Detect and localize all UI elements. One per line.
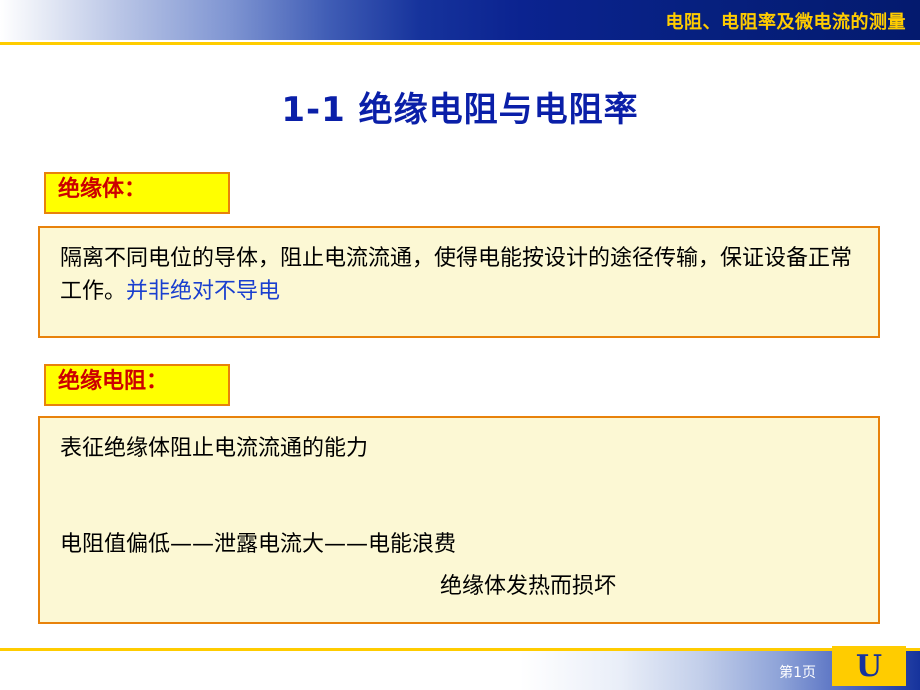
footer-band: 第1页 U xyxy=(0,648,920,690)
header-title: 电阻、电阻率及微电流的测量 xyxy=(666,8,907,34)
header-yellow-rule xyxy=(0,42,920,45)
page-title: 1-1 绝缘电阻与电阻率 xyxy=(0,82,920,131)
insulator-content-box: 隔离不同电位的导体，阻止电流流通，使得电能按设计的途径传输，保证设备正常工作。并… xyxy=(38,226,880,338)
insulation-resistance-tag-label: 绝缘电阻： xyxy=(44,364,230,406)
insulation-resistance-line3: 绝缘体发热而损坏 xyxy=(440,570,616,603)
insulator-tag-label: 绝缘体： xyxy=(44,172,230,214)
insulation-resistance-content-box: 表征绝缘体阻止电流流通的能力 电阻值偏低——泄露电流大——电能浪费 绝缘体发热而… xyxy=(38,416,880,624)
logo-u-icon: U xyxy=(832,646,906,686)
insulation-resistance-line1: 表征绝缘体阻止电流流通的能力 xyxy=(60,432,368,465)
header-band: 电阻、电阻率及微电流的测量 xyxy=(0,0,920,46)
insulator-body-text: 隔离不同电位的导体，阻止电流流通，使得电能按设计的途径传输，保证设备正常工作。并… xyxy=(60,242,860,308)
logo-badge: U xyxy=(832,646,906,686)
insulation-resistance-line2: 电阻值偏低——泄露电流大——电能浪费 xyxy=(60,528,456,561)
insulator-body-note: 并非绝对不导电 xyxy=(126,279,280,304)
page-number: 第1页 xyxy=(779,662,816,682)
